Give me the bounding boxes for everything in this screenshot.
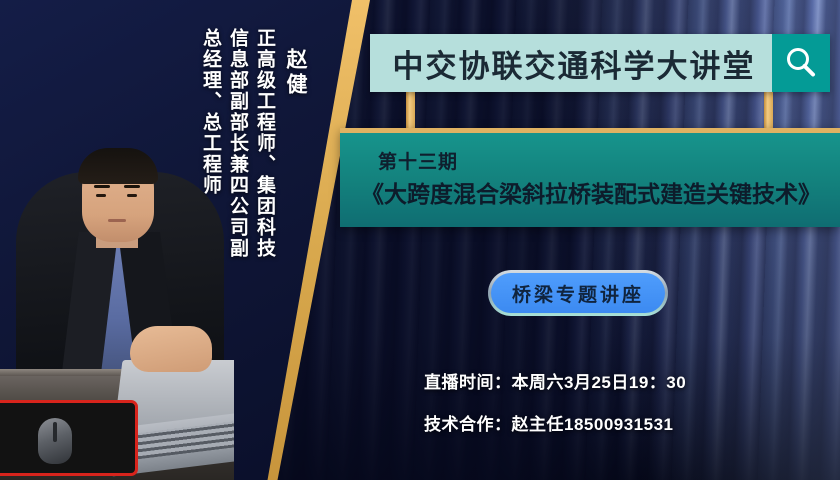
- speaker-hair: [78, 148, 158, 184]
- subtitle-panel: 第十三期 《大跨度混合梁斜拉桥装配式建造关键技术》: [340, 128, 840, 227]
- speaker-credential-2: 信息部副部长兼四公司副: [224, 28, 251, 259]
- title-bar: 中交协联交通科学大讲堂: [370, 34, 830, 92]
- topic-badge[interactable]: 桥梁专题讲座: [491, 273, 665, 313]
- contact-info: 技术合作：赵主任18500931531: [424, 410, 674, 435]
- mouse-scroll-wheel: [53, 422, 57, 442]
- broadcast-time: 直播时间：本周六3月25日19：30: [424, 368, 686, 393]
- speaker-hands: [130, 326, 212, 372]
- speaker-eye-left: [96, 194, 106, 197]
- speaker-brow-left: [94, 185, 110, 188]
- search-button[interactable]: [772, 34, 830, 92]
- speaker-name: 赵健: [280, 48, 310, 98]
- speaker-eye-right: [127, 194, 137, 197]
- poster-root: 赵健 正高级工程师、集团科技 信息部副部长兼四公司副 总经理、总工程师 中交协联…: [0, 0, 840, 480]
- topic-badge-label: 桥梁专题讲座: [512, 280, 644, 307]
- speaker-credential-3: 总经理、总工程师: [197, 28, 224, 196]
- search-icon: [783, 45, 819, 81]
- lecture-title: 《大跨度混合梁斜拉桥装配式建造关键技术》: [348, 175, 834, 209]
- page-title: 中交协联交通科学大讲堂: [370, 41, 772, 86]
- speaker-brow-right: [124, 185, 140, 188]
- computer-mouse: [38, 418, 72, 464]
- speaker-credential-1: 正高级工程师、集团科技: [251, 28, 278, 259]
- issue-number: 第十三期: [378, 147, 458, 174]
- speaker-mouth: [108, 219, 126, 222]
